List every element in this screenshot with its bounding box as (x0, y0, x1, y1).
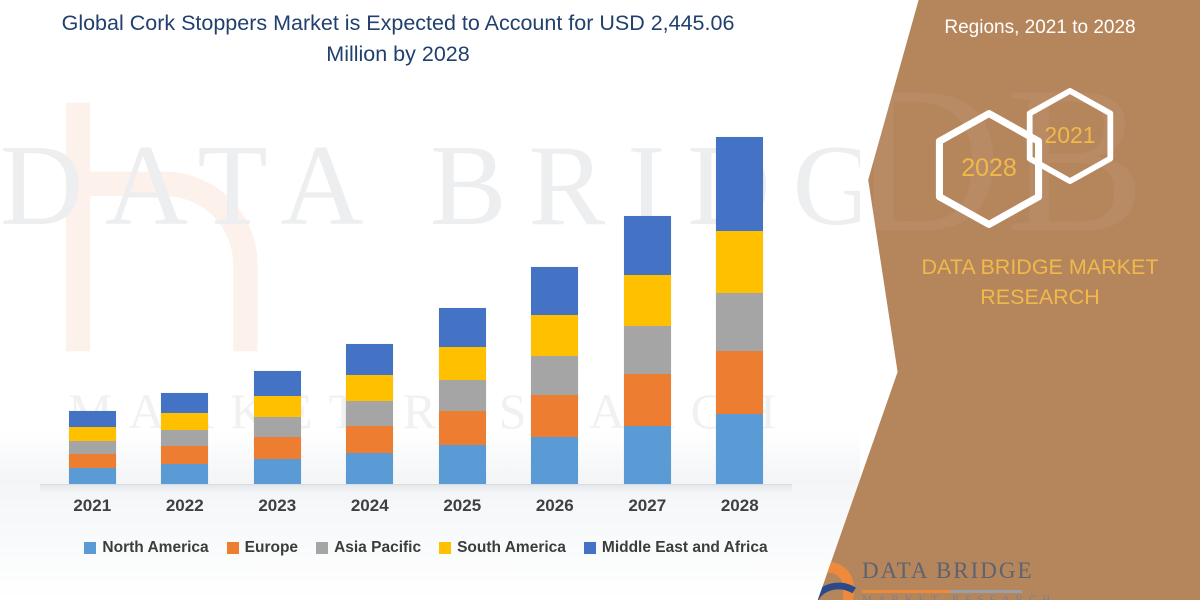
bar-segment (531, 315, 578, 356)
hexagon-2021-label: 2021 (1022, 122, 1118, 149)
stacked-bar (69, 411, 116, 484)
legend-label: North America (102, 539, 208, 557)
axis-baseline-shadow (40, 485, 792, 493)
stacked-bar (624, 216, 671, 484)
hexagon-group: 2028 2021 (930, 88, 1170, 228)
bar-segment (254, 396, 301, 417)
stacked-bar (346, 344, 393, 484)
bar-segment (624, 275, 671, 326)
legend-item[interactable]: South America (439, 539, 566, 557)
x-axis-tick: 2027 (602, 496, 692, 516)
bar-segment (439, 411, 486, 445)
bar-segment (161, 413, 208, 430)
legend-swatch (84, 542, 96, 554)
bar-segment (716, 351, 763, 414)
bar-segment (716, 414, 763, 484)
bar-segment (254, 371, 301, 396)
plot-area (46, 96, 786, 484)
legend-label: Europe (245, 539, 298, 557)
bar-column (232, 96, 322, 484)
bar-column (510, 96, 600, 484)
bar-segment (161, 393, 208, 413)
brand-heading: Regions, 2021 to 2028 (890, 0, 1190, 42)
x-axis-tick: 2024 (325, 496, 415, 516)
bar-group (46, 96, 786, 484)
bar-segment (716, 231, 763, 293)
bar-segment (161, 430, 208, 446)
bar-segment (531, 267, 578, 315)
bar-segment (439, 308, 486, 347)
bar-segment (69, 454, 116, 468)
legend-swatch (439, 542, 451, 554)
hexagon-2021: 2021 (1022, 88, 1118, 184)
bar-segment (439, 347, 486, 380)
corner-logo-wordmark: DATA BRIDGE (862, 558, 1034, 584)
bar-segment (531, 437, 578, 484)
chart-title: Global Cork Stoppers Market is Expected … (58, 8, 738, 70)
bar-segment (161, 464, 208, 484)
x-axis-labels: 20212022202320242025202620272028 (46, 496, 786, 516)
legend-swatch (316, 542, 328, 554)
bar-segment (716, 137, 763, 231)
chart-panel: DATA BRIDGE MARKET RESEARCH Global Cork … (0, 0, 860, 600)
bar-segment (254, 417, 301, 437)
x-axis-tick: 2025 (417, 496, 507, 516)
x-axis-tick: 2023 (232, 496, 322, 516)
brand-name-line-2: RESEARCH (890, 282, 1190, 312)
x-axis-tick: 2021 (47, 496, 137, 516)
bar-segment (69, 411, 116, 427)
bar-column (140, 96, 230, 484)
stacked-bar (531, 267, 578, 484)
legend-label: Middle East and Africa (602, 539, 768, 557)
bar-segment (161, 446, 208, 464)
bar-segment (531, 356, 578, 395)
x-axis-tick: 2026 (510, 496, 600, 516)
corner-logo-underbar (862, 590, 1022, 593)
bar-segment (716, 293, 763, 351)
bar-column (417, 96, 507, 484)
x-axis-tick: 2022 (140, 496, 230, 516)
bar-segment (69, 468, 116, 484)
bar-segment (531, 395, 578, 437)
legend-swatch (227, 542, 239, 554)
bar-segment (346, 375, 393, 401)
bar-segment (624, 374, 671, 426)
bar-segment (69, 441, 116, 454)
bar-segment (254, 437, 301, 459)
legend-label: South America (457, 539, 566, 557)
legend-item[interactable]: Middle East and Africa (584, 539, 768, 557)
stacked-bar (716, 137, 763, 484)
chart-legend: North AmericaEuropeAsia PacificSouth Ame… (46, 539, 806, 557)
brand-name-line-1: DATA BRIDGE MARKET (890, 252, 1190, 282)
bar-segment (69, 427, 116, 441)
bar-column (695, 96, 785, 484)
infographic-root: DATA BRIDGE MARKET RESEARCH Global Cork … (0, 0, 1200, 600)
bar-segment (624, 326, 671, 374)
bar-segment (346, 453, 393, 484)
legend-item[interactable]: Asia Pacific (316, 539, 421, 557)
bar-column (47, 96, 137, 484)
brand-name: DATA BRIDGE MARKET RESEARCH (890, 252, 1190, 312)
legend-item[interactable]: North America (84, 539, 208, 557)
legend-item[interactable]: Europe (227, 539, 298, 557)
bar-segment (346, 426, 393, 453)
bar-segment (439, 380, 486, 411)
stacked-bar (439, 308, 486, 484)
legend-label: Asia Pacific (334, 539, 421, 557)
bar-column (325, 96, 415, 484)
bar-segment (254, 459, 301, 484)
legend-swatch (584, 542, 596, 554)
stacked-bar (254, 371, 301, 484)
brand-heading-line-2: Regions, 2021 to 2028 (890, 14, 1190, 42)
corner-logo: DATA BRIDGE MARKET RESEARCH (800, 548, 1030, 600)
stacked-bar (161, 393, 208, 484)
bar-segment (624, 426, 671, 484)
bar-segment (346, 401, 393, 426)
bar-segment (346, 344, 393, 375)
bar-column (602, 96, 692, 484)
bar-segment (439, 445, 486, 484)
corner-logo-subword: MARKET RESEARCH (862, 594, 1056, 600)
bar-segment (624, 216, 671, 275)
x-axis-tick: 2028 (695, 496, 785, 516)
brand-heading-line-1 (890, 0, 1190, 14)
